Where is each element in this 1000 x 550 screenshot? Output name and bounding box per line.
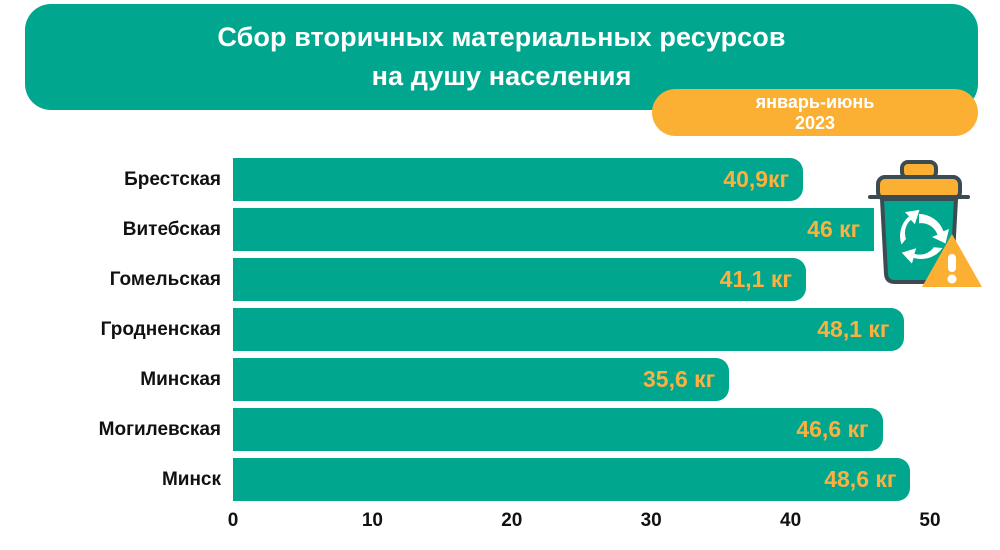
x-axis-tick-label: 20 [501,508,522,534]
bar-value-label: 40,9кг [723,158,789,201]
infographic-root: Сбор вторичных материальных ресурсов на … [0,0,1000,550]
bar: 48,1 кг [233,308,904,351]
bar: 48,6 кг [233,458,910,501]
bar-row: Гомельская41,1 кг [0,258,1000,301]
bar-category-label: Гомельская [110,258,221,301]
bar-row: Брестская40,9кг [0,158,1000,201]
x-axis-tick-label: 40 [780,508,801,534]
bar-value-label: 46,6 кг [796,408,868,451]
bar-value-label: 35,6 кг [643,358,715,401]
bar-value-label: 48,1 кг [817,308,889,351]
bar-category-label: Гродненская [101,308,221,351]
bar-row: Минск48,6 кг [0,458,1000,501]
bar-row: Могилевская46,6 кг [0,408,1000,451]
page-title: Сбор вторичных материальных ресурсов на … [25,18,978,96]
bar-category-label: Витебская [123,208,221,251]
x-axis-tick-label: 10 [362,508,383,534]
x-axis-tick-label: 30 [641,508,662,534]
bar-category-label: Минская [140,358,221,401]
bar: 35,6 кг [233,358,729,401]
x-axis: 01020304050 [0,508,1000,542]
bar-category-label: Могилевская [99,408,221,451]
bar-row: Гродненская48,1 кг [0,308,1000,351]
page-title-line-1: Сбор вторичных материальных ресурсов [217,22,785,52]
bar: 40,9кг [233,158,803,201]
recycling-bin-warning-icon [856,156,982,292]
period-badge-period: январь-июнь [756,92,875,113]
bar-value-label: 41,1 кг [720,258,792,301]
bar: 41,1 кг [233,258,806,301]
period-badge-year: 2023 [795,113,835,134]
bar-value-label: 46 кг [807,208,860,251]
x-axis-tick-label: 50 [919,508,940,534]
bar-chart: Брестская40,9кгВитебская46 кгГомельская4… [0,150,1000,550]
bar-row: Витебская46 кг [0,208,1000,251]
bar-row: Минская35,6 кг [0,358,1000,401]
bar: 46 кг [233,208,874,251]
period-badge: январь-июнь 2023 [652,89,978,136]
x-axis-tick-label: 0 [228,508,239,534]
bar-category-label: Минск [162,458,221,501]
bar-category-label: Брестская [124,158,221,201]
bar-value-label: 48,6 кг [824,458,896,501]
bar: 46,6 кг [233,408,883,451]
